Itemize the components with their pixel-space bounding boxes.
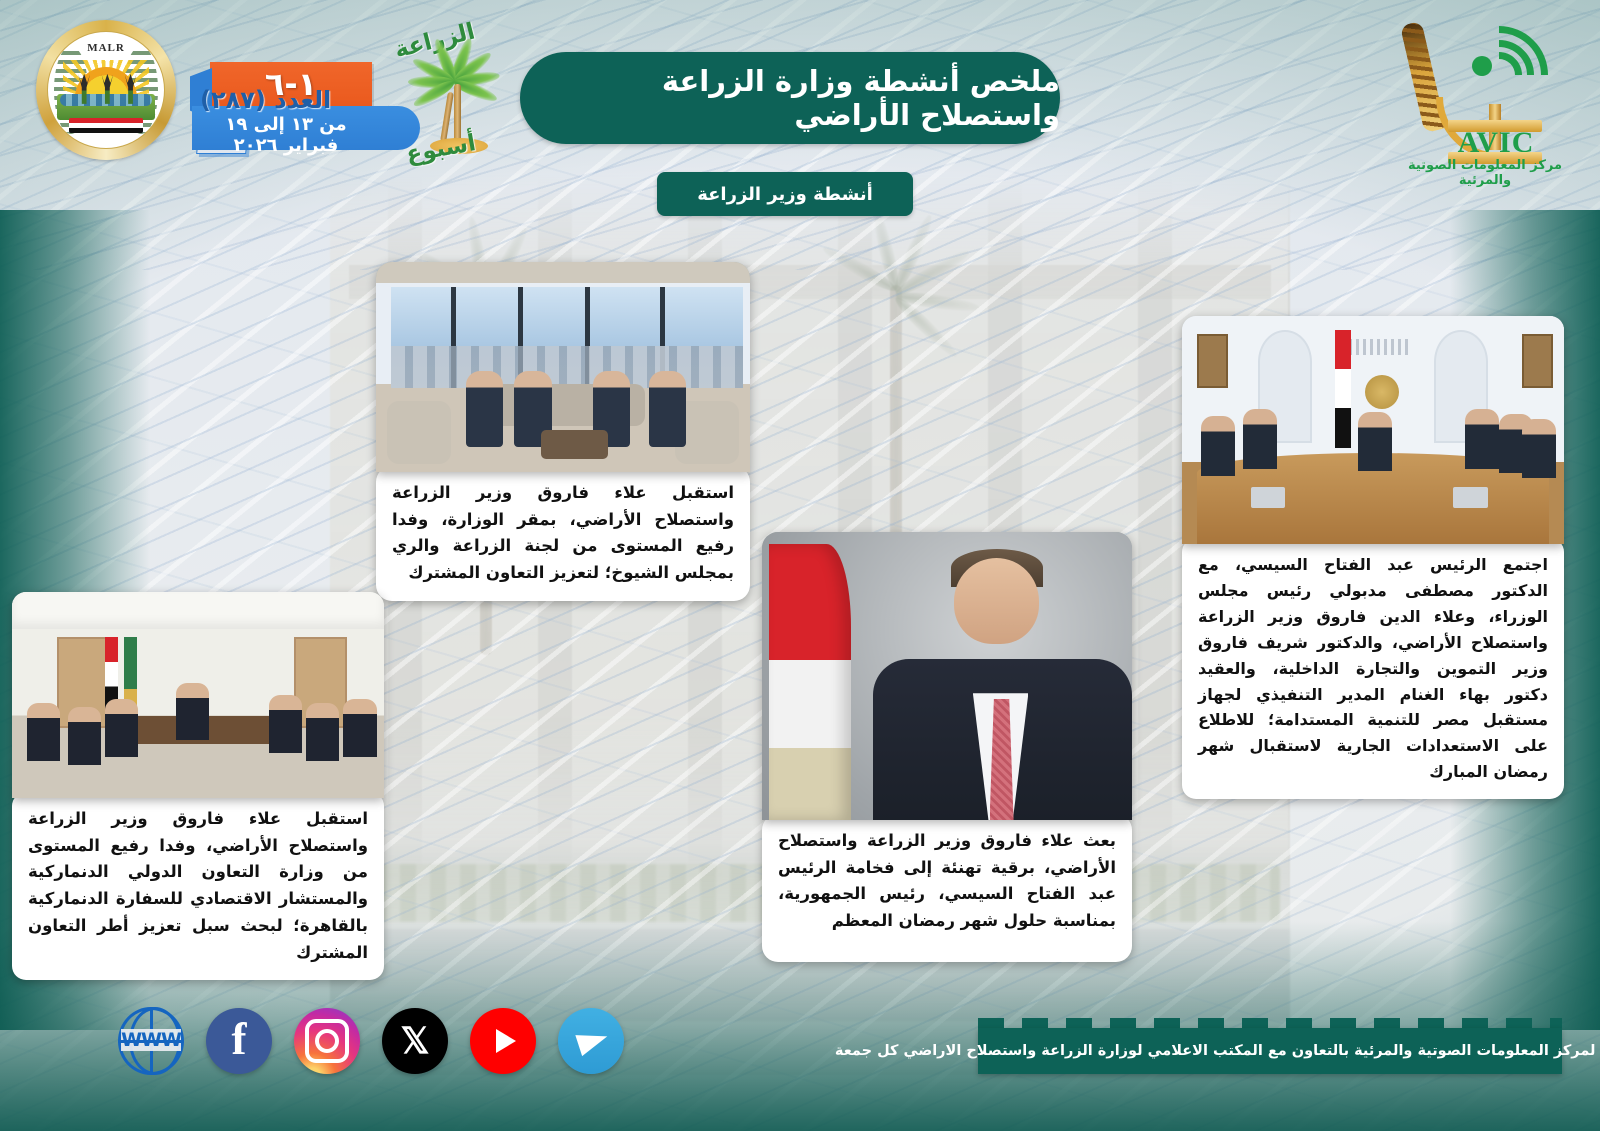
- minister-portrait-photo: [762, 532, 1132, 820]
- avic-subtitle-text: مركز المعلومات الصوتية والمرئية: [1390, 158, 1580, 188]
- news-card-4[interactable]: بعث علاء فاروق وزير الزراعة واستصلاح الأ…: [762, 532, 1132, 962]
- agriculture-week-logo: الزراعة أسبوع: [398, 18, 518, 188]
- news-card-1[interactable]: استقبل علاء فاروق وزير الزراعة واستصلاح …: [376, 262, 750, 601]
- news-caption-3: استقبل علاء فاروق وزير الزراعة واستصلاح …: [12, 792, 384, 980]
- agri-week-bottom-label: أسبوع: [404, 130, 477, 168]
- x-twitter-icon[interactable]: 𝕏: [382, 1008, 448, 1074]
- website-icon[interactable]: WWW: [118, 1008, 184, 1074]
- infographic-poster: MALR ١-٦ من ١٣ إلى ١٩ فبراير ٢٠٢٦ العدد …: [0, 0, 1600, 1131]
- broadcast-waves-icon: [1446, 24, 1546, 110]
- news-caption-2: اجتمع الرئيس عبد الفتاح السيسي، مع الدكت…: [1182, 538, 1564, 799]
- section-subtitle-text: أنشطة وزير الزراعة: [697, 184, 873, 205]
- ministry-seal-icon: MALR: [36, 20, 176, 160]
- news-caption-1: استقبل علاء فاروق وزير الزراعة واستصلاح …: [376, 466, 750, 601]
- news-photo-2: [1182, 316, 1564, 544]
- website-label: WWW: [121, 1029, 181, 1051]
- news-photo-3: [12, 592, 384, 798]
- footer-bar: اصدار اسبوعي لمركز المعلومات الصوتية وال…: [978, 1028, 1562, 1074]
- social-links: WWW f 𝕏: [118, 995, 718, 1087]
- news-caption-4: بعث علاء فاروق وزير الزراعة واستصلاح الأ…: [762, 814, 1132, 962]
- page-title-text: ملخص أنشطة وزارة الزراعة واستصلاح الأراض…: [520, 64, 1060, 132]
- facebook-glyph: f: [232, 1017, 247, 1062]
- issue-label-text: العدد (٢٨٧): [200, 86, 331, 114]
- instagram-icon[interactable]: [294, 1008, 360, 1074]
- youtube-icon[interactable]: [470, 1008, 536, 1074]
- seal-acronym: MALR: [48, 42, 164, 54]
- section-subtitle: أنشطة وزير الزراعة: [657, 172, 913, 216]
- news-card-3[interactable]: استقبل علاء فاروق وزير الزراعة واستصلاح …: [12, 592, 384, 980]
- issue-date-text: من ١٣ إلى ١٩ فبراير ٢٠٢٦: [210, 114, 362, 156]
- telegram-icon[interactable]: [558, 1008, 624, 1074]
- x-glyph: 𝕏: [400, 1020, 429, 1062]
- page-title: ملخص أنشطة وزارة الزراعة واستصلاح الأراض…: [520, 52, 1060, 144]
- news-card-2[interactable]: اجتمع الرئيس عبد الفتاح السيسي، مع الدكت…: [1182, 316, 1564, 799]
- avic-center-dot: [1472, 56, 1492, 76]
- avic-logo: AVIC مركز المعلومات الصوتية والمرئية: [1390, 8, 1580, 180]
- facebook-icon[interactable]: f: [206, 1008, 272, 1074]
- news-photo-1: [376, 262, 750, 472]
- footer-text: اصدار اسبوعي لمركز المعلومات الصوتية وال…: [835, 1043, 1600, 1059]
